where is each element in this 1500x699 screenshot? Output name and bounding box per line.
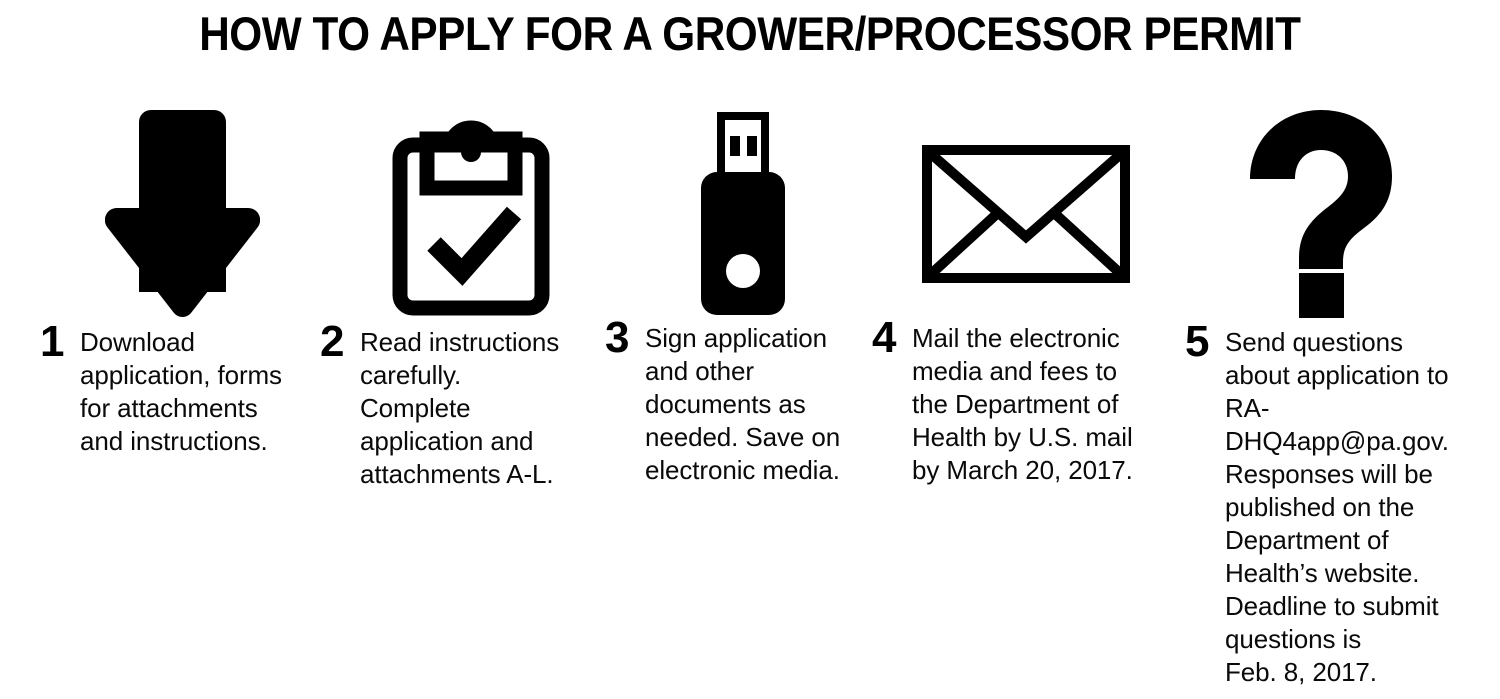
- envelope-icon: [922, 145, 1130, 288]
- steps-row: 1 Download application, forms for attach…: [0, 96, 1500, 696]
- step-3: 3 Sign application and other documents a…: [605, 96, 863, 487]
- step-4-text: Mail the electronic media and fees to th…: [912, 322, 1142, 487]
- step-2: 2 Read instructions carefully. Complete …: [320, 96, 585, 491]
- question-mark-icon: [1250, 110, 1392, 325]
- page-title-text: HOW TO APPLY FOR A GROWER/PROCESSOR PERM…: [199, 8, 1300, 60]
- step-2-text: Read instructions carefully. Complete ap…: [360, 326, 585, 491]
- step-4-number: 4: [872, 316, 896, 360]
- step-2-body: 2 Read instructions carefully. Complete …: [320, 326, 585, 491]
- step-1-icon-slot: [40, 96, 302, 326]
- step-5-body: 5 Send questions about application to RA…: [1185, 326, 1485, 689]
- step-4-body: 4 Mail the electronic media and fees to …: [872, 322, 1142, 487]
- clipboard-check-icon: [392, 112, 550, 321]
- step-4: 4 Mail the electronic media and fees to …: [872, 96, 1142, 487]
- step-3-text: Sign application and other documents as …: [645, 322, 863, 487]
- step-1: 1 Download application, forms for attach…: [40, 96, 302, 458]
- step-3-number: 3: [605, 316, 629, 360]
- step-3-icon-slot: [605, 96, 863, 326]
- step-2-number: 2: [320, 320, 344, 364]
- step-1-text: Download application, forms for attachme…: [80, 326, 302, 458]
- step-4-icon-slot: [872, 96, 1142, 326]
- step-1-number: 1: [40, 320, 64, 364]
- usb-flash-drive-icon: [700, 112, 786, 321]
- step-5-text: Send questions about application to RA-D…: [1225, 326, 1485, 689]
- page-title: HOW TO APPLY FOR A GROWER/PROCESSOR PERM…: [0, 8, 1500, 60]
- step-5: 5 Send questions about application to RA…: [1185, 96, 1485, 689]
- step-1-body: 1 Download application, forms for attach…: [40, 326, 302, 458]
- step-2-icon-slot: [320, 96, 585, 326]
- download-arrow-icon: [105, 110, 260, 327]
- step-5-icon-slot: [1185, 96, 1485, 326]
- step-5-number: 5: [1185, 320, 1209, 364]
- step-3-body: 3 Sign application and other documents a…: [605, 322, 863, 487]
